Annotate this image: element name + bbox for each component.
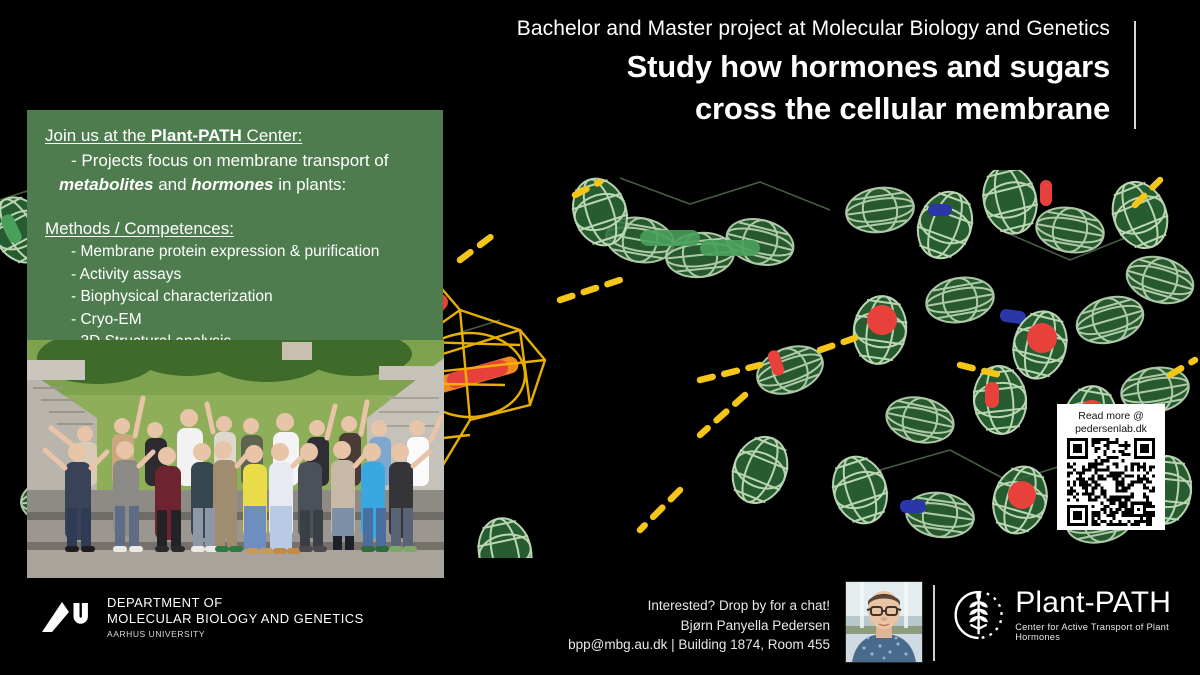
info-box-heading: Join us at the Plant-PATH Center: [45, 124, 425, 149]
methods-item: - Membrane protein expression & purifica… [45, 241, 425, 264]
heading-part-2: Center: [242, 126, 302, 145]
qr-code-wrap [1061, 438, 1161, 526]
portrait-illustration [846, 582, 922, 662]
portrait-photo [845, 581, 923, 663]
heading-part-1: Join us at the [45, 126, 151, 145]
wheat-circle-icon [952, 586, 1005, 644]
info-box-bullet-line-1: - Projects focus on membrane transport o… [45, 149, 425, 174]
methods-item: - Cryo-EM [45, 309, 425, 332]
heading-bold-plantpath: Plant-PATH [151, 126, 242, 145]
contact-block: Interested? Drop by for a chat! Bjørn Pa… [470, 596, 830, 655]
contact-line-3[interactable]: bpp@mbg.au.dk | Building 1874, Room 455 [470, 635, 830, 655]
header-title-line-1: Study how hormones and sugars [430, 48, 1110, 86]
aarhus-university-logo: DEPARTMENT OF MOLECULAR BIOLOGY AND GENE… [42, 596, 364, 639]
footer-divider [933, 585, 935, 661]
qr-code[interactable] [1065, 438, 1157, 526]
qr-caption-line-2: pedersenlab.dk [1061, 423, 1161, 436]
plant-path-name: Plant-PATH [1015, 588, 1200, 618]
header-divider [1134, 21, 1136, 129]
bullet-post-text: in plants: [273, 175, 346, 194]
group-photo [27, 340, 444, 578]
emphasis-metabolites: metabolites [59, 175, 153, 194]
contact-line-2: Bjørn Panyella Pedersen [470, 616, 830, 636]
methods-item: - Activity assays [45, 264, 425, 287]
qr-panel[interactable]: Read more @ pedersenlab.dk [1057, 404, 1165, 530]
group-photo-illustration [27, 340, 444, 578]
au-logo-mark [42, 600, 94, 634]
qr-caption-line-1: Read more @ [1061, 410, 1161, 423]
plant-path-tagline: Center for Active Transport of Plant Hor… [1015, 623, 1200, 642]
emphasis-hormones: hormones [191, 175, 273, 194]
info-box: Join us at the Plant-PATH Center: - Proj… [27, 110, 443, 340]
plant-path-logo-text: Plant-PATH Center for Active Transport o… [1015, 588, 1200, 642]
info-box-bullet-line-2: metabolites and hormones in plants: [45, 173, 425, 198]
contact-line-1: Interested? Drop by for a chat! [470, 596, 830, 616]
poster-header: Bachelor and Master project at Molecular… [430, 14, 1136, 132]
au-logo-line-1: DEPARTMENT OF [107, 596, 364, 609]
header-superline: Bachelor and Master project at Molecular… [430, 14, 1110, 44]
info-box-spacer [45, 198, 425, 217]
header-title-line-2: cross the cellular membrane [430, 90, 1110, 128]
au-logo-line-3: AARHUS UNIVERSITY [107, 630, 364, 639]
au-logo-line-2: MOLECULAR BIOLOGY AND GENETICS [107, 612, 364, 625]
plant-path-logo: Plant-PATH Center for Active Transport o… [952, 586, 1200, 644]
methods-heading: Methods / Competences: [45, 217, 425, 242]
bullet-mid-text: and [153, 175, 191, 194]
methods-item: - Biophysical characterization [45, 286, 425, 309]
au-logo-text: DEPARTMENT OF MOLECULAR BIOLOGY AND GENE… [107, 596, 364, 639]
